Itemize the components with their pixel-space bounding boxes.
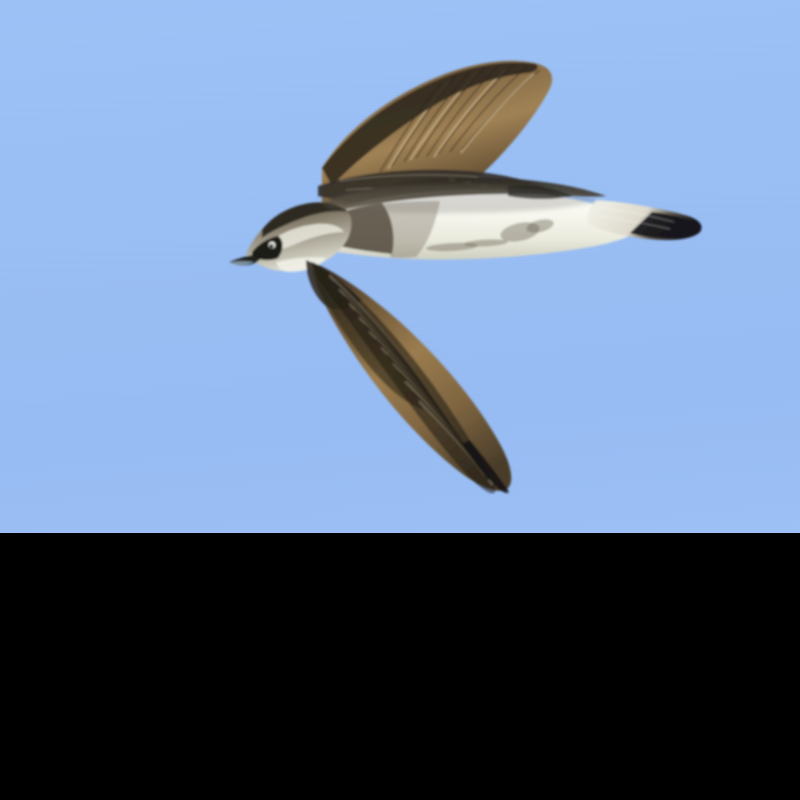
footer-band: Golondrina parda – Progne tapera Fotógra… bbox=[0, 733, 800, 800]
lower-wing bbox=[306, 260, 511, 493]
bird-photograph bbox=[0, 0, 800, 533]
caption-band: Golondrina parda Brown-chested Martin Pr… bbox=[0, 533, 800, 733]
head bbox=[230, 202, 351, 272]
photo-card: Golondrina parda Brown-chested Martin Pr… bbox=[0, 0, 800, 800]
bird-illustration bbox=[0, 0, 800, 533]
